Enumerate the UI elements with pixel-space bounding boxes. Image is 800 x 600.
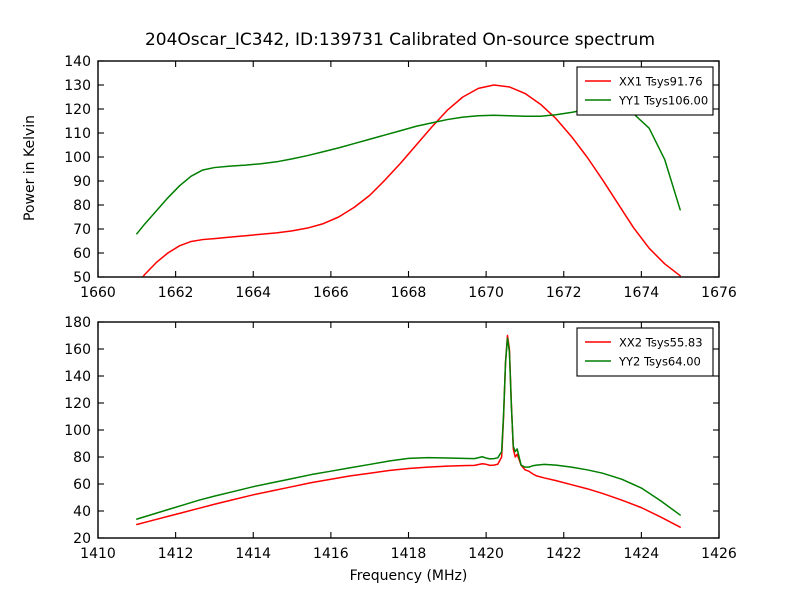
x-tick-label: 1412 — [158, 546, 194, 562]
y-tick-label: 90 — [73, 174, 91, 190]
x-tick-label: 1420 — [468, 546, 504, 562]
y-tick-label: 20 — [73, 531, 91, 547]
bottom-panel-x-axis-label: Frequency (MHz) — [98, 568, 719, 584]
y-tick-label: 80 — [73, 198, 91, 214]
x-tick-label: 1666 — [313, 285, 349, 301]
y-tick-label: 100 — [64, 150, 91, 166]
legend-label: XX2 Tsys55.83 — [619, 336, 703, 350]
x-tick-label: 1410 — [80, 546, 116, 562]
y-tick-label: 110 — [64, 126, 91, 142]
x-tick-label: 1674 — [624, 285, 660, 301]
x-tick-label: 1418 — [391, 546, 427, 562]
x-tick-label: 1660 — [80, 285, 116, 301]
y-tick-label: 160 — [64, 342, 91, 358]
y-tick-label: 120 — [64, 102, 91, 118]
y-tick-label: 130 — [64, 78, 91, 94]
bottom-panel-svg: 1410141214141416141814201422142414262040… — [40, 316, 800, 596]
x-tick-label: 1424 — [624, 546, 660, 562]
x-tick-label: 1416 — [313, 546, 349, 562]
y-tick-label: 140 — [64, 55, 91, 70]
y-tick-label: 60 — [73, 246, 91, 262]
bottom-panel-spectrum-plot: 1410141214141416141814201422142414262040… — [40, 316, 800, 596]
y-tick-label: 40 — [73, 504, 91, 520]
legend-label: YY2 Tsys64.00 — [618, 355, 701, 369]
x-tick-label: 1422 — [546, 546, 582, 562]
legend-label: YY1 Tsys106.00 — [618, 94, 708, 108]
top-panel-spectrum-plot: 1660166216641666166816701672167416765060… — [40, 55, 800, 315]
x-tick-label: 1414 — [235, 546, 271, 562]
y-tick-label: 80 — [73, 450, 91, 466]
x-tick-label: 1670 — [468, 285, 504, 301]
x-tick-label: 1676 — [701, 285, 737, 301]
y-tick-label: 50 — [73, 270, 91, 286]
y-tick-label: 140 — [64, 369, 91, 385]
figure-canvas: 204Oscar_IC342, ID:139731 Calibrated On-… — [0, 0, 800, 600]
y-tick-label: 70 — [73, 222, 91, 238]
x-tick-label: 1426 — [701, 546, 737, 562]
page-title: 204Oscar_IC342, ID:139731 Calibrated On-… — [0, 30, 800, 50]
y-tick-label: 100 — [64, 423, 91, 439]
top-panel-y-axis-label: Power in Kelvin — [22, 115, 38, 221]
top-panel-svg: 1660166216641666166816701672167416765060… — [40, 55, 800, 315]
x-tick-label: 1664 — [235, 285, 271, 301]
series-line-yy1 — [137, 108, 680, 234]
x-tick-label: 1668 — [391, 285, 427, 301]
legend-label: XX1 Tsys91.76 — [619, 75, 703, 89]
x-tick-label: 1662 — [158, 285, 194, 301]
y-tick-label: 60 — [73, 477, 91, 493]
x-tick-label: 1672 — [546, 285, 582, 301]
y-tick-label: 180 — [64, 316, 91, 331]
y-tick-label: 120 — [64, 396, 91, 412]
